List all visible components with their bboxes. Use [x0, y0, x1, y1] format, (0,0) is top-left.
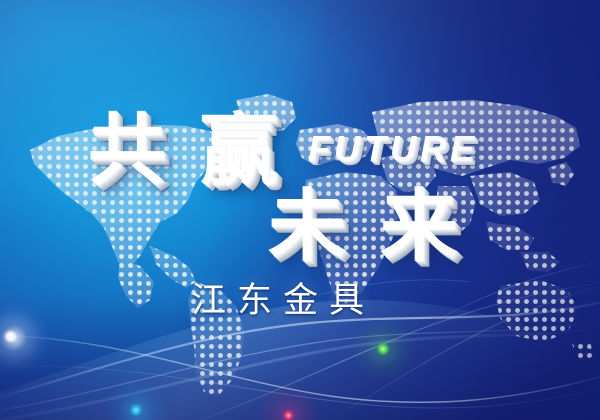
- promo-banner: 共赢 FUTURE 未来 江东金具: [0, 0, 600, 420]
- overlay-vignette: [0, 0, 600, 420]
